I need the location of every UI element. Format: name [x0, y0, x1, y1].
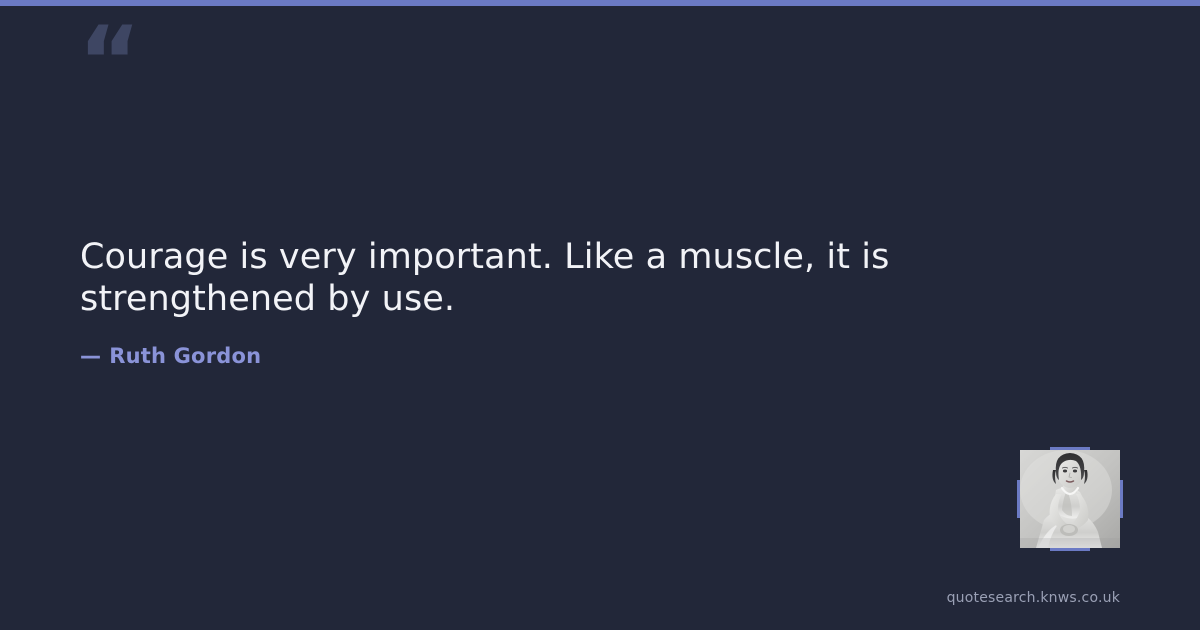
author-portrait-photo: [1020, 450, 1120, 548]
attribution-dash: —: [80, 344, 101, 368]
quote-card: “ Courage is very important. Like a musc…: [0, 0, 1200, 630]
attribution-author: Ruth Gordon: [109, 344, 261, 368]
top-accent-bar: [0, 0, 1200, 6]
frame-tick-right: [1120, 480, 1123, 518]
quote-text: Courage is very important. Like a muscle…: [80, 236, 980, 320]
opening-quote-icon: “: [78, 14, 139, 110]
author-portrait-frame: [1020, 450, 1120, 548]
source-url: quotesearch.knws.co.uk: [947, 590, 1120, 606]
quote-attribution: —Ruth Gordon: [80, 344, 261, 368]
quote-body: Courage is very important. Like a muscle…: [80, 236, 980, 320]
frame-tick-bottom: [1050, 548, 1090, 551]
